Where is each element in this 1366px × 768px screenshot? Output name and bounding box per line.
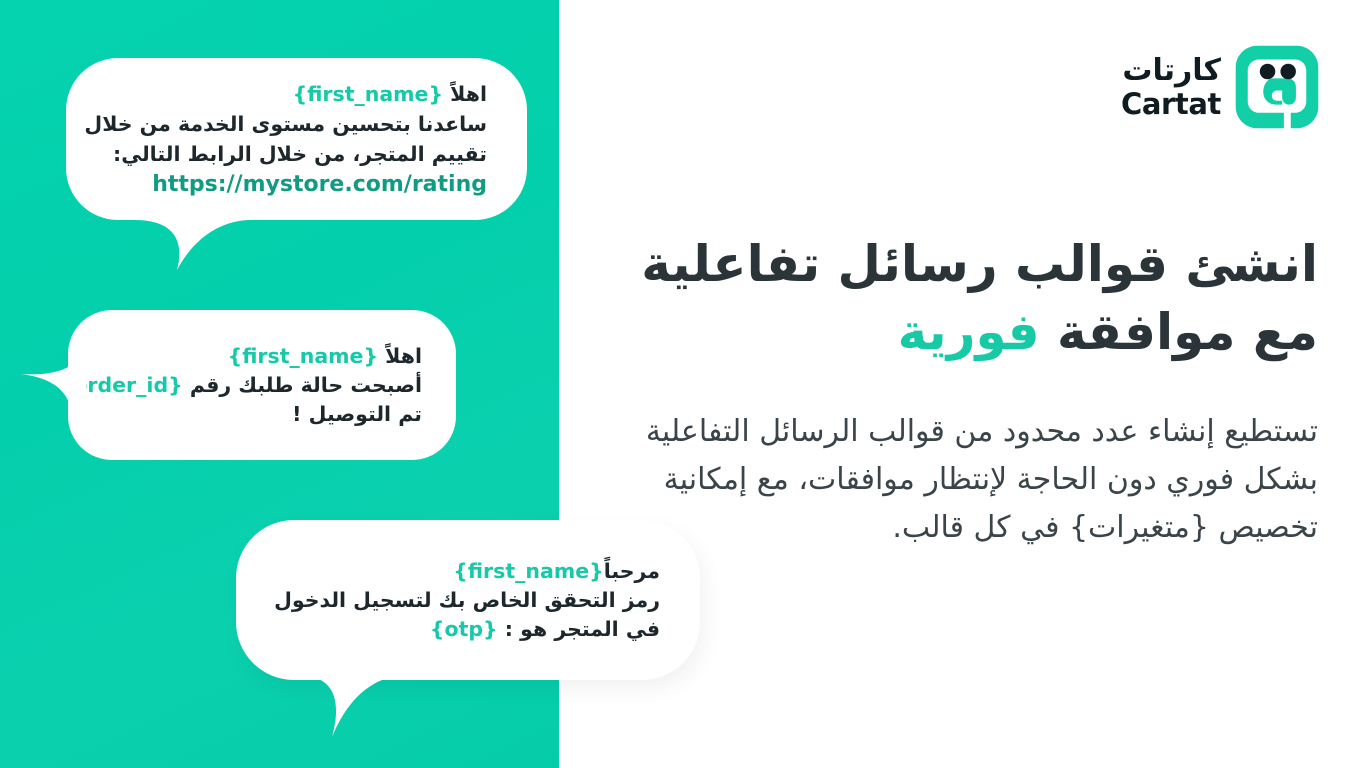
chat-bubble-line: اهلاً {first_name} <box>100 79 487 109</box>
chat-bubble-line: أصبحت حالة طلبك رقم {order_id} <box>98 371 422 400</box>
template-variable: {first_name} <box>228 344 378 368</box>
brand-name-latin: Cartat <box>1121 90 1221 119</box>
message-text: تقييم المتجر، من خلال الرابط التالي: <box>113 142 487 166</box>
message-text: تم التوصيل ! <box>292 402 422 426</box>
brand-logo[interactable]: كارتات Cartat <box>1121 44 1320 130</box>
message-link[interactable]: https://mystore.com/rating <box>152 172 487 197</box>
message-text: رمز التحقق الخاص بك لتسجيل الدخول <box>274 588 660 612</box>
headline-line-2-prefix: مع موافقة <box>1040 303 1318 361</box>
message-text: في المتجر هو : <box>498 617 660 641</box>
chat-bubble-line: https://mystore.com/rating <box>100 169 487 200</box>
headline-line-1: انشئ قوالب رسائل تفاعلية <box>641 235 1318 293</box>
message-text: اهلاً <box>443 82 487 106</box>
promo-slide: اهلاً {first_name}ساعدنا بتحسين مستوى ال… <box>0 0 1366 768</box>
chat-bubble-line: مرحباً{first_name} <box>270 557 660 586</box>
chat-bubble-otp-tail <box>300 655 410 745</box>
message-text: أصبحت حالة طلبك رقم <box>183 373 422 397</box>
chat-bubble-line: رمز التحقق الخاص بك لتسجيل الدخول <box>270 586 660 615</box>
chat-bubble-line: تم التوصيل ! <box>98 400 422 429</box>
brand-name-arabic: كارتات <box>1122 56 1221 86</box>
page-title: انشئ قوالب رسائل تفاعلية مع موافقة فورية <box>618 230 1318 366</box>
message-text: مرحباً <box>604 559 660 583</box>
message-text: ساعدنا بتحسين مستوى الخدمة من خلال <box>84 112 487 136</box>
chat-bubble-line: في المتجر هو : {otp} <box>270 615 660 644</box>
chat-bubble-order-status: اهلاً {first_name}أصبحت حالة طلبك رقم {o… <box>68 310 456 460</box>
chat-bubble-rating-request-tail <box>133 196 253 276</box>
chat-bubble-line: تقييم المتجر، من خلال الرابط التالي: <box>100 139 487 169</box>
template-variable: {otp} <box>430 617 498 641</box>
chat-bubble-line: اهلاً {first_name} <box>98 342 422 371</box>
at-face-icon <box>1234 44 1320 130</box>
page-description: تستطيع إنشاء عدد محدود من قوالب الرسائل … <box>578 408 1318 552</box>
chat-bubble-rating-request-text: اهلاً {first_name}ساعدنا بتحسين مستوى ال… <box>100 79 487 200</box>
chat-bubble-order-status-tail <box>18 352 88 422</box>
template-variable: {first_name} <box>293 82 443 106</box>
headline-line-2-accent: فورية <box>898 303 1040 361</box>
chat-bubble-otp-text: مرحباً{first_name}رمز التحقق الخاص بك لت… <box>270 557 660 644</box>
template-variable: {first_name} <box>453 559 603 583</box>
chat-bubble-line: ساعدنا بتحسين مستوى الخدمة من خلال <box>100 109 487 139</box>
message-text: اهلاً <box>378 344 422 368</box>
chat-bubble-order-status-text: اهلاً {first_name}أصبحت حالة طلبك رقم {o… <box>98 342 422 429</box>
brand-wordmark: كارتات Cartat <box>1121 56 1221 119</box>
